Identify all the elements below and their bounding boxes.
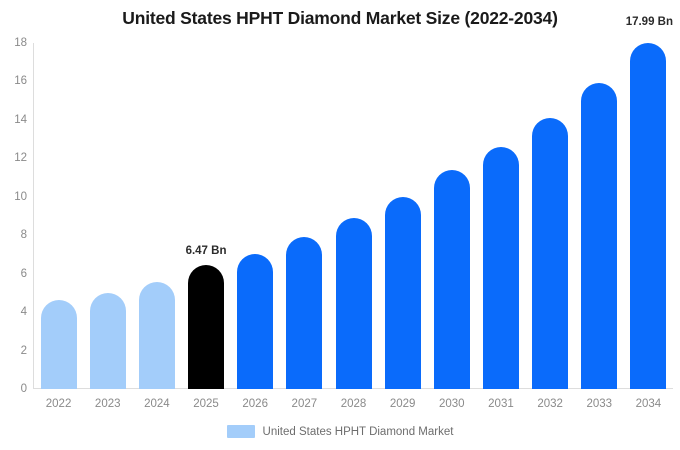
bar-group: 2028 (336, 43, 372, 389)
bar[interactable] (286, 237, 322, 389)
x-tick-label: 2028 (341, 398, 367, 410)
x-tick-label: 2031 (488, 398, 514, 410)
y-tick-label: 14 (14, 114, 27, 126)
plot-area: 024681012141618 2022202320246.47 Bn20252… (33, 43, 673, 389)
y-tick-label: 6 (21, 268, 27, 280)
y-tick-label: 10 (14, 191, 27, 203)
peak-value-annotation: 17.99 Bn (626, 16, 673, 28)
legend-swatch (227, 425, 255, 438)
bar[interactable] (581, 83, 617, 389)
x-tick-label: 2022 (46, 398, 72, 410)
bar-group: 2022 (41, 43, 77, 389)
bar[interactable] (434, 170, 470, 389)
y-tick-label: 4 (21, 306, 27, 318)
y-tick-label: 2 (21, 345, 27, 357)
bar-group: 2029 (385, 43, 421, 389)
y-tick-label: 0 (21, 383, 27, 395)
bar-group: 2026 (237, 43, 273, 389)
bar[interactable] (483, 147, 519, 389)
x-tick-label: 2027 (292, 398, 318, 410)
bar[interactable] (41, 300, 77, 389)
bar-group: 2023 (90, 43, 126, 389)
bar-group: 2030 (434, 43, 470, 389)
bar-group: 2024 (139, 43, 175, 389)
legend-item-label: United States HPHT Diamond Market (263, 426, 454, 438)
bar-group: 2027 (286, 43, 322, 389)
bar[interactable] (188, 265, 224, 389)
bar[interactable] (139, 282, 175, 389)
chart-legend: United States HPHT Diamond Market (0, 425, 680, 438)
x-tick-label: 2029 (390, 398, 416, 410)
chart-title: United States HPHT Diamond Market Size (… (0, 8, 680, 29)
y-tick-label: 8 (21, 229, 27, 241)
bar-series: 2022202320246.47 Bn202520262027202820292… (34, 43, 673, 389)
bar[interactable] (336, 218, 372, 389)
y-tick-label: 18 (14, 37, 27, 49)
bar-group: 2032 (532, 43, 568, 389)
bar-group: 2034 (630, 43, 666, 389)
bar[interactable] (90, 293, 126, 389)
x-tick-label: 2034 (636, 398, 662, 410)
bar-value-label: 6.47 Bn (186, 245, 227, 257)
x-tick-label: 2023 (95, 398, 121, 410)
bar-group: 2031 (483, 43, 519, 389)
x-tick-label: 2030 (439, 398, 465, 410)
x-tick-label: 2026 (242, 398, 268, 410)
y-tick-label: 16 (14, 75, 27, 87)
bar[interactable] (532, 118, 568, 389)
y-tick-label: 12 (14, 152, 27, 164)
chart-container: United States HPHT Diamond Market Size (… (0, 0, 680, 450)
bar[interactable] (385, 197, 421, 389)
bar-group: 6.47 Bn2025 (188, 43, 224, 389)
x-tick-label: 2024 (144, 398, 170, 410)
bar[interactable] (630, 43, 666, 389)
x-tick-label: 2032 (537, 398, 563, 410)
x-tick-label: 2025 (193, 398, 219, 410)
bar[interactable] (237, 254, 273, 389)
bar-group: 2033 (581, 43, 617, 389)
x-tick-label: 2033 (586, 398, 612, 410)
